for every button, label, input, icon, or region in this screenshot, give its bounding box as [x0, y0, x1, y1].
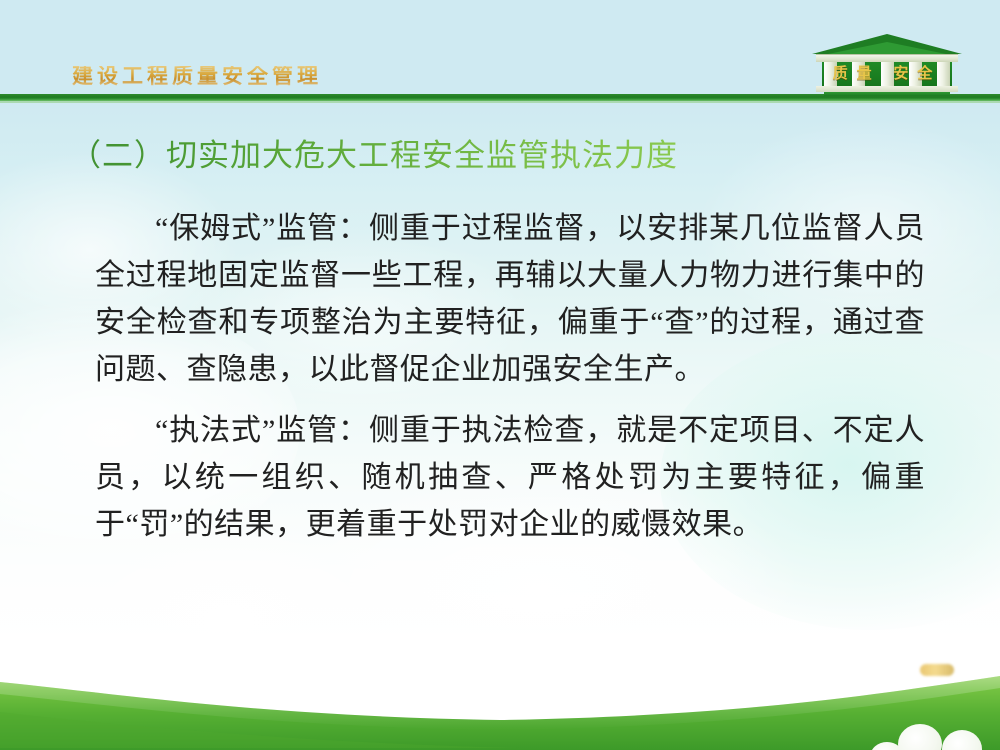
- logo-roof-shade-icon: [828, 42, 946, 54]
- yellow-bloom-icon: [920, 664, 954, 676]
- header-title: 建设工程质量安全管理: [72, 66, 322, 87]
- body-paragraph: “保姆式”监管：侧重于过程监督，以安排某几位监督人员全过程地固定监督一些工程，再…: [95, 205, 925, 393]
- quality-safety-building-logo: 质量 安全: [812, 34, 962, 96]
- body-paragraph: “执法式”监管：侧重于执法检查，就是不定项目、不定人员，以统一组织、随机抽查、严…: [95, 407, 925, 548]
- grass-hill-icon: [0, 620, 1000, 750]
- logo-architrave-icon: [816, 54, 958, 62]
- slide-header: 建设工程质量安全管理 质量 安全: [0, 0, 1000, 104]
- slide-body: “保姆式”监管：侧重于过程监督，以安排某几位监督人员全过程地固定监督一些工程，再…: [95, 205, 925, 548]
- header-divider-thin: [0, 101, 1000, 103]
- slide-heading: （二）切实加大危大工程安全监管执法力度: [70, 136, 678, 176]
- logo-plinth-icon: [824, 92, 950, 96]
- slide-canvas: 建设工程质量安全管理 质量 安全 （二）切实加大危大工程安全监管执法力度 “保姆…: [0, 0, 1000, 750]
- grass-hill-decoration: [0, 620, 1000, 750]
- logo-label: 质量 安全: [812, 65, 962, 83]
